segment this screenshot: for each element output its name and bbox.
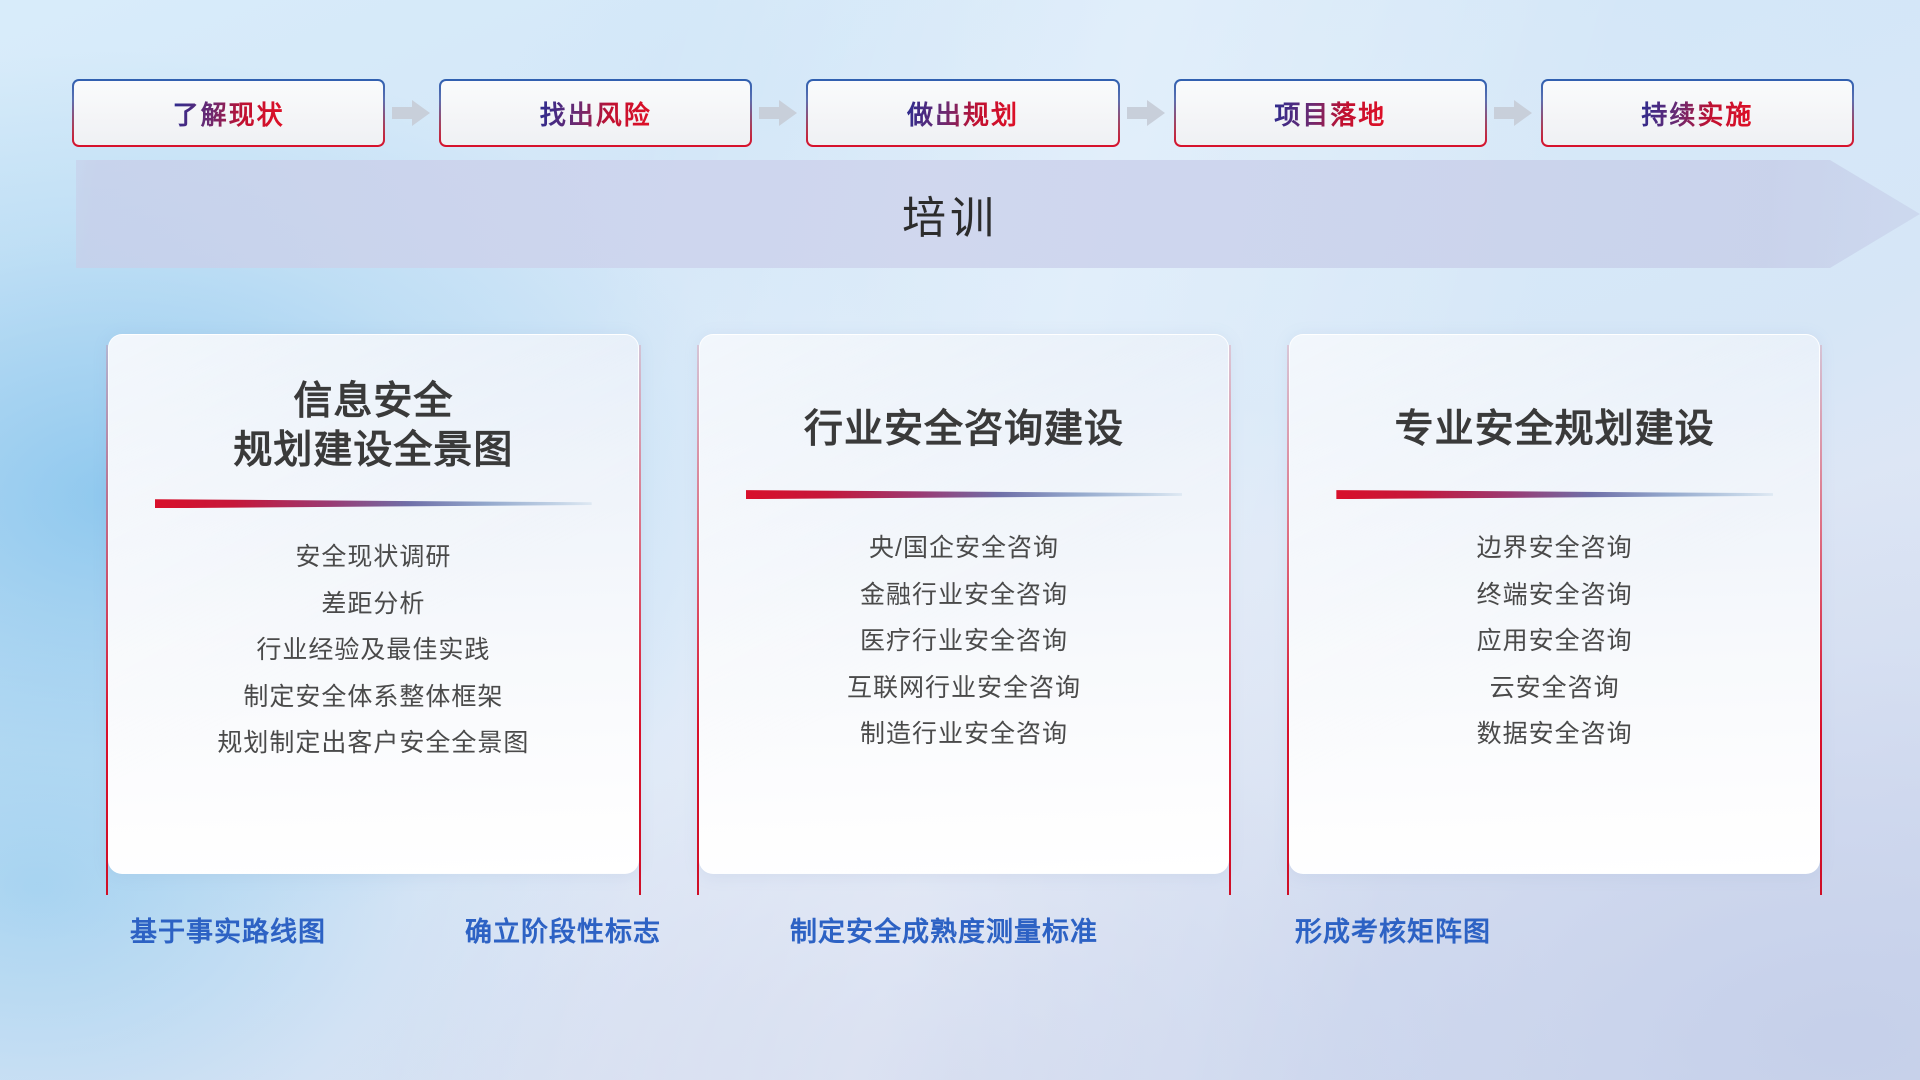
list-item[interactable]: 规划制定出客户安全全景图: [217, 725, 529, 763]
process-step-3[interactable]: 做出规划: [806, 79, 1119, 147]
list-item[interactable]: 制造行业安全咨询: [860, 716, 1068, 754]
list-item[interactable]: 终端安全咨询: [1477, 577, 1633, 615]
process-step-label: 了解现状: [173, 95, 285, 132]
process-step-label: 项目落地: [1274, 95, 1386, 132]
service-card-title: 专业安全规划建设: [1395, 405, 1715, 454]
list-item[interactable]: 行业经验及最佳实践: [256, 632, 490, 670]
cards-row: 信息安全 规划建设全景图安全现状调研差距分析行业经验及最佳实践制定安全体系整体框…: [108, 334, 1820, 874]
list-item[interactable]: 边界安全咨询: [1477, 530, 1633, 568]
list-item[interactable]: 医疗行业安全咨询: [860, 623, 1068, 661]
process-step-inner: 项目落地: [1176, 81, 1485, 145]
service-card-list: 安全现状调研差距分析行业经验及最佳实践制定安全体系整体框架规划制定出客户安全全景…: [135, 539, 612, 763]
card-gradient-divider: [746, 488, 1183, 500]
chevron-right-arrow-icon: [1487, 93, 1541, 133]
footnote-label-1: 基于事实路线图: [130, 910, 326, 949]
chevron-right-arrow-icon: [385, 93, 439, 133]
process-step-inner: 找出风险: [441, 81, 750, 145]
process-step-label: 找出风险: [540, 95, 652, 132]
chevron-right-arrow-icon: [1120, 93, 1174, 133]
process-step-inner: 做出规划: [808, 81, 1117, 145]
list-item[interactable]: 差距分析: [321, 586, 425, 624]
process-step-inner: 持续实施: [1543, 81, 1852, 145]
process-step-1[interactable]: 了解现状: [72, 79, 385, 147]
service-card-title: 信息安全 规划建设全景图: [233, 377, 513, 475]
list-item[interactable]: 数据安全咨询: [1477, 716, 1633, 754]
service-card-3[interactable]: 专业安全规划建设边界安全咨询终端安全咨询应用安全咨询云安全咨询数据安全咨询: [1289, 334, 1820, 874]
card-gradient-divider: [1336, 488, 1773, 500]
chevron-right-arrow-icon: [752, 93, 806, 133]
footnote-label-3: 制定安全成熟度测量标准: [790, 910, 1098, 949]
process-step-2[interactable]: 找出风险: [439, 79, 752, 147]
list-item[interactable]: 金融行业安全咨询: [860, 577, 1068, 615]
list-item[interactable]: 安全现状调研: [295, 539, 451, 577]
process-step-5[interactable]: 持续实施: [1541, 79, 1854, 147]
process-steps-row: 了解现状找出风险做出规划项目落地持续实施: [72, 78, 1854, 148]
process-step-label: 做出规划: [907, 95, 1019, 132]
list-item[interactable]: 应用安全咨询: [1477, 623, 1633, 661]
training-banner: 培训: [0, 160, 1920, 268]
footnote-row: 基于事实路线图确立阶段性标志制定安全成熟度测量标准形成考核矩阵图: [0, 910, 1920, 958]
banner-text-wrap: 培训: [0, 160, 1920, 268]
process-step-inner: 了解现状: [74, 81, 383, 145]
footnote-label-4: 形成考核矩阵图: [1295, 910, 1491, 949]
list-item[interactable]: 央/国企安全咨询: [869, 530, 1059, 568]
banner-label: 培训: [902, 182, 998, 246]
service-card-2[interactable]: 行业安全咨询建设央/国企安全咨询金融行业安全咨询医疗行业安全咨询互联网行业安全咨…: [699, 334, 1230, 874]
service-card-title: 行业安全咨询建设: [804, 405, 1124, 454]
service-card-list: 边界安全咨询终端安全咨询应用安全咨询云安全咨询数据安全咨询: [1316, 530, 1793, 754]
card-gradient-divider: [155, 497, 592, 509]
service-card-list: 央/国企安全咨询金融行业安全咨询医疗行业安全咨询互联网行业安全咨询制造行业安全咨…: [726, 530, 1203, 754]
list-item[interactable]: 互联网行业安全咨询: [847, 670, 1081, 708]
process-step-4[interactable]: 项目落地: [1174, 79, 1487, 147]
list-item[interactable]: 制定安全体系整体框架: [243, 679, 503, 717]
footnote-label-2: 确立阶段性标志: [465, 910, 661, 949]
service-card-1[interactable]: 信息安全 规划建设全景图安全现状调研差距分析行业经验及最佳实践制定安全体系整体框…: [108, 334, 639, 874]
list-item[interactable]: 云安全咨询: [1490, 670, 1620, 708]
process-step-label: 持续实施: [1641, 95, 1753, 132]
